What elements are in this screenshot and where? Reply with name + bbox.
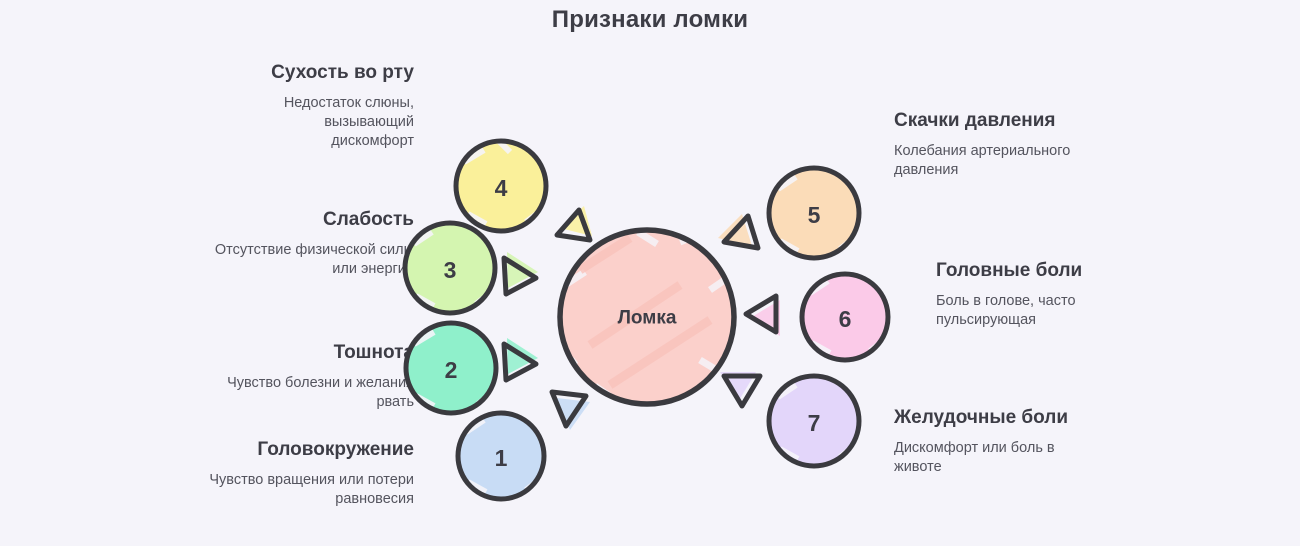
hub-and-spoke-diagram: Ломка 4 <box>380 110 920 510</box>
center-node: Ломка <box>556 228 734 404</box>
description-pressure-swings: Колебания артериального давления <box>894 142 1084 180</box>
center-node-label: Ломка <box>618 308 677 329</box>
heading-headaches: Головные боли <box>936 258 1126 284</box>
description-dizziness: Чувство вращения или потери равновесия <box>180 471 414 509</box>
node-1: 1 <box>458 413 546 499</box>
node-2: 2 <box>406 323 498 413</box>
arrow-3-right <box>504 252 538 294</box>
node-5: 5 <box>769 168 860 258</box>
arrow-5-up <box>718 214 758 248</box>
text-block-stomach-pain: Желудочные боли Дискомфорт или боль в жи… <box>894 405 1094 477</box>
arrow-6-left <box>746 296 780 336</box>
arrow-4-up <box>557 206 592 240</box>
node-7-number: 7 <box>808 410 821 436</box>
node-6: 6 <box>802 274 890 360</box>
heading-stomach-pain: Желудочные боли <box>894 405 1094 431</box>
arrow-7-down <box>720 372 760 406</box>
heading-dizziness: Головокружение <box>180 437 414 463</box>
node-4: 4 <box>456 140 548 231</box>
node-3: 3 <box>405 223 496 313</box>
node-7: 7 <box>769 376 860 466</box>
description-headaches: Боль в голове, часто пульсирующая <box>936 292 1126 330</box>
node-1-number: 1 <box>495 445 508 471</box>
text-block-dizziness: Головокружение Чувство вращения или поте… <box>180 437 414 509</box>
heading-pressure-swings: Скачки давления <box>894 108 1084 134</box>
text-block-pressure-swings: Скачки давления Колебания артериального … <box>894 108 1084 180</box>
arrow-2-right <box>504 338 538 380</box>
arrow-1-down <box>552 392 590 430</box>
page-title: Признаки ломки <box>0 6 1300 34</box>
node-6-number: 6 <box>839 306 852 332</box>
heading-dry-mouth: Сухость во рту <box>242 60 414 86</box>
node-5-number: 5 <box>808 202 821 228</box>
infographic-page: Признаки ломки Сухость во рту Недостаток… <box>0 0 1300 546</box>
node-2-number: 2 <box>445 357 458 383</box>
text-block-headaches: Головные боли Боль в голове, часто пульс… <box>936 258 1126 330</box>
node-4-number: 4 <box>495 175 508 201</box>
node-3-number: 3 <box>444 257 457 283</box>
description-stomach-pain: Дискомфорт или боль в животе <box>894 439 1094 477</box>
